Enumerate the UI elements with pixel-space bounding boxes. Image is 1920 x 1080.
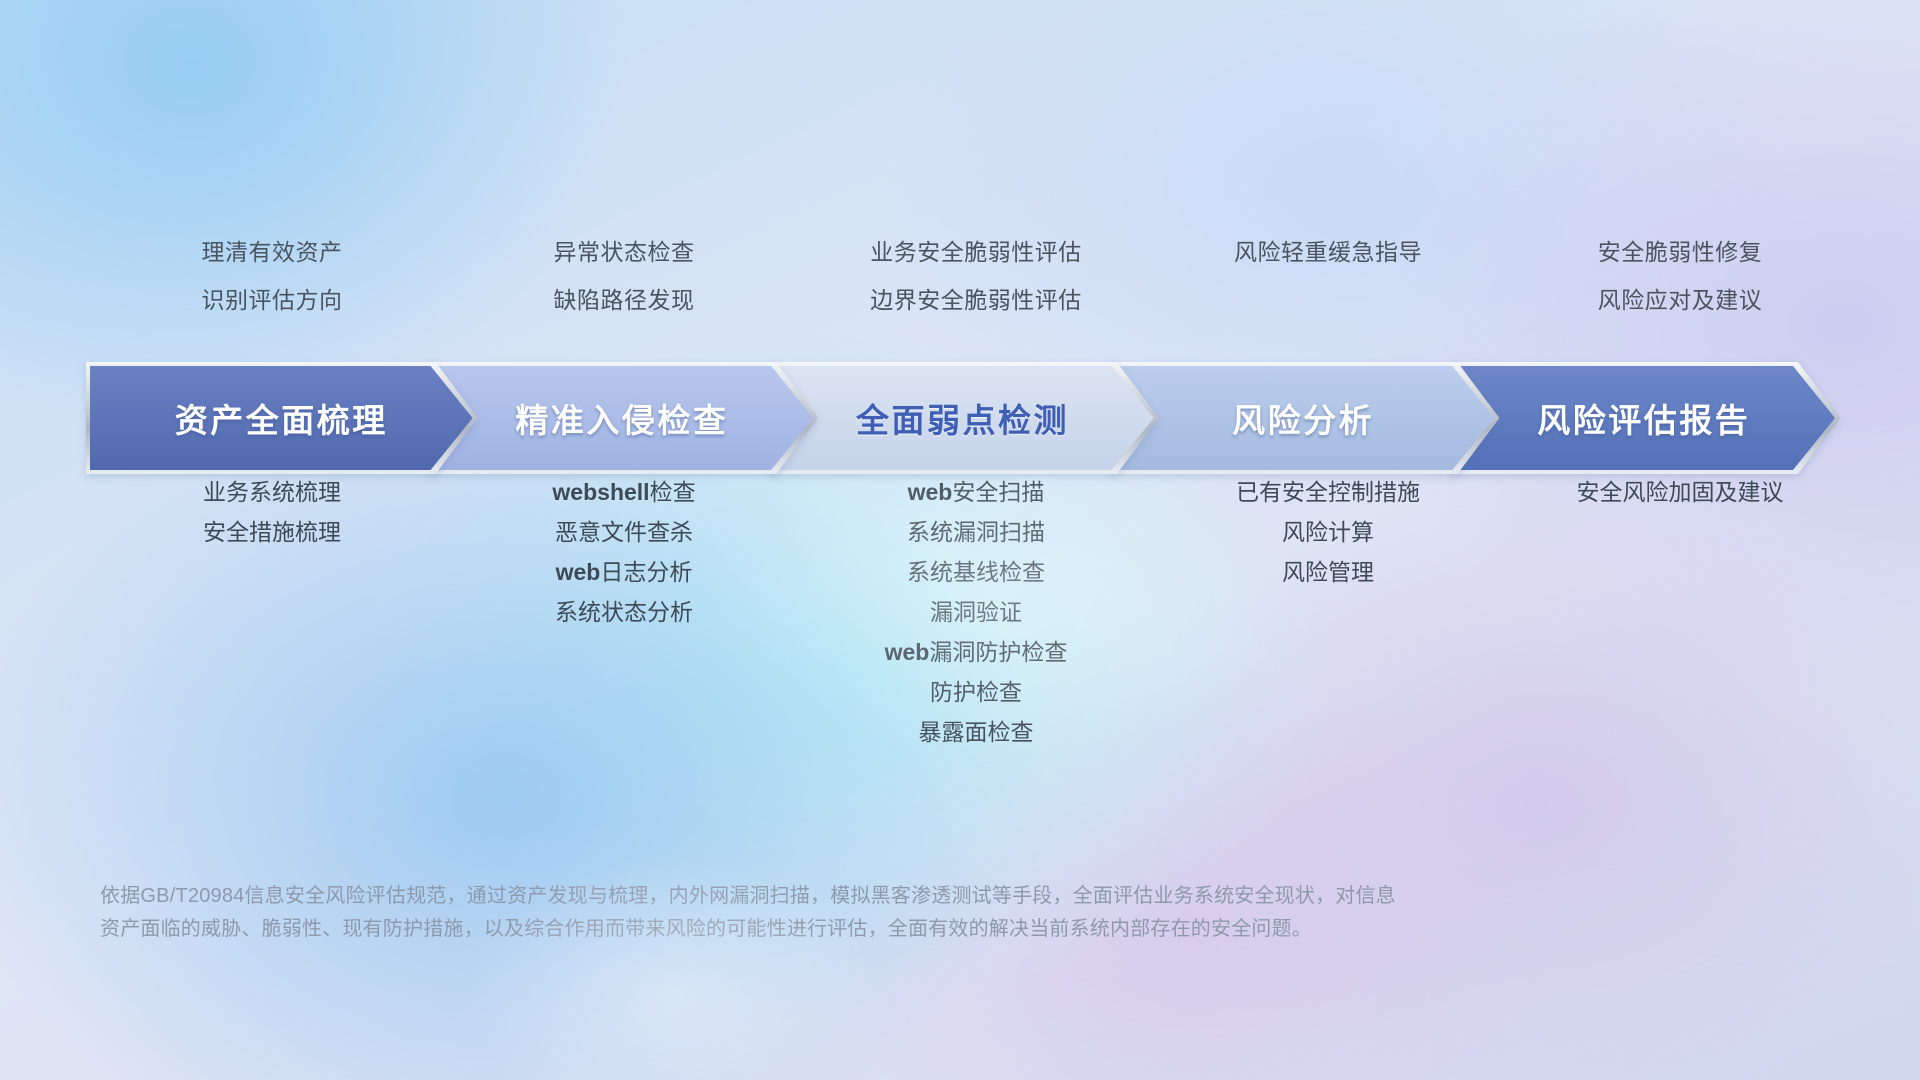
- top-note: 边界安全脆弱性评估: [800, 276, 1152, 324]
- stage-label: 风险评估报告: [1537, 394, 1750, 442]
- detail-item: 业务系统梳理: [96, 472, 448, 512]
- detail-item: 暴露面检查: [800, 712, 1152, 752]
- detail-item: web漏洞防护检查: [800, 632, 1152, 672]
- detail-item: web安全扫描: [800, 472, 1152, 512]
- footer-line-1: 依据GB/T20984信息安全风险评估规范，通过资产发现与梳理，内外网漏洞扫描，…: [100, 880, 1720, 913]
- stage-label: 精准入侵检查: [515, 394, 728, 442]
- top-notes-col-2: 异常状态检查缺陷路径发现: [448, 228, 800, 324]
- detail-col-4: 已有安全控制措施风险计算风险管理: [1152, 460, 1504, 752]
- top-note: 异常状态检查: [448, 228, 800, 276]
- detail-item: 系统状态分析: [448, 592, 800, 632]
- detail-col-2: webshell检查恶意文件查杀web日志分析系统状态分析: [448, 460, 800, 752]
- footer-line-2: 资产面临的威胁、脆弱性、现有防护措施，以及综合作用而带来风险的可能性进行评估，全…: [100, 913, 1720, 946]
- stage-label: 风险分析: [1232, 394, 1374, 442]
- top-notes-row: 理清有效资产识别评估方向异常状态检查缺陷路径发现业务安全脆弱性评估边界安全脆弱性…: [96, 228, 1856, 324]
- top-note: 业务安全脆弱性评估: [800, 228, 1152, 276]
- process-chevron-band: 资产全面梳理精准入侵检查全面弱点检测风险分析风险评估报告: [90, 366, 1835, 470]
- detail-item: 风险管理: [1152, 552, 1504, 592]
- process-stage-3[interactable]: 全面弱点检测: [771, 366, 1154, 470]
- top-note: 识别评估方向: [96, 276, 448, 324]
- detail-item: 系统漏洞扫描: [800, 512, 1152, 552]
- top-note: 风险轻重缓急指导: [1152, 228, 1504, 276]
- process-stage-5[interactable]: 风险评估报告: [1452, 366, 1835, 470]
- footer-description: 依据GB/T20984信息安全风险评估规范，通过资产发现与梳理，内外网漏洞扫描，…: [100, 880, 1720, 946]
- detail-item: 漏洞验证: [800, 592, 1152, 632]
- top-note: 缺陷路径发现: [448, 276, 800, 324]
- detail-item: 已有安全控制措施: [1152, 472, 1504, 512]
- detail-item: 安全风险加固及建议: [1504, 472, 1856, 512]
- process-stage-1[interactable]: 资产全面梳理: [90, 366, 473, 470]
- detail-lists-row: 业务系统梳理安全措施梳理webshell检查恶意文件查杀web日志分析系统状态分…: [96, 460, 1856, 752]
- top-notes-col-1: 理清有效资产识别评估方向: [96, 228, 448, 324]
- detail-col-3: web安全扫描系统漏洞扫描系统基线检查漏洞验证web漏洞防护检查防护检查暴露面检…: [800, 460, 1152, 752]
- process-stage-4[interactable]: 风险分析: [1112, 366, 1495, 470]
- top-notes-col-4: 风险轻重缓急指导: [1152, 228, 1504, 324]
- stage-label: 资产全面梳理: [175, 394, 388, 442]
- top-notes-col-5: 安全脆弱性修复风险应对及建议: [1504, 228, 1856, 324]
- detail-col-1: 业务系统梳理安全措施梳理: [96, 460, 448, 752]
- top-note: 风险应对及建议: [1504, 276, 1856, 324]
- detail-item: 系统基线检查: [800, 552, 1152, 592]
- detail-item: 防护检查: [800, 672, 1152, 712]
- detail-item: webshell检查: [448, 472, 800, 512]
- detail-item: 恶意文件查杀: [448, 512, 800, 552]
- top-note: 安全脆弱性修复: [1504, 228, 1856, 276]
- detail-item: 风险计算: [1152, 512, 1504, 552]
- detail-item: 安全措施梳理: [96, 512, 448, 552]
- top-note: 理清有效资产: [96, 228, 448, 276]
- process-stage-2[interactable]: 精准入侵检查: [431, 366, 814, 470]
- stage-label: 全面弱点检测: [856, 394, 1069, 442]
- detail-col-5: 安全风险加固及建议: [1504, 460, 1856, 752]
- detail-item: web日志分析: [448, 552, 800, 592]
- top-notes-col-3: 业务安全脆弱性评估边界安全脆弱性评估: [800, 228, 1152, 324]
- infographic-canvas: 理清有效资产识别评估方向异常状态检查缺陷路径发现业务安全脆弱性评估边界安全脆弱性…: [0, 0, 1920, 1080]
